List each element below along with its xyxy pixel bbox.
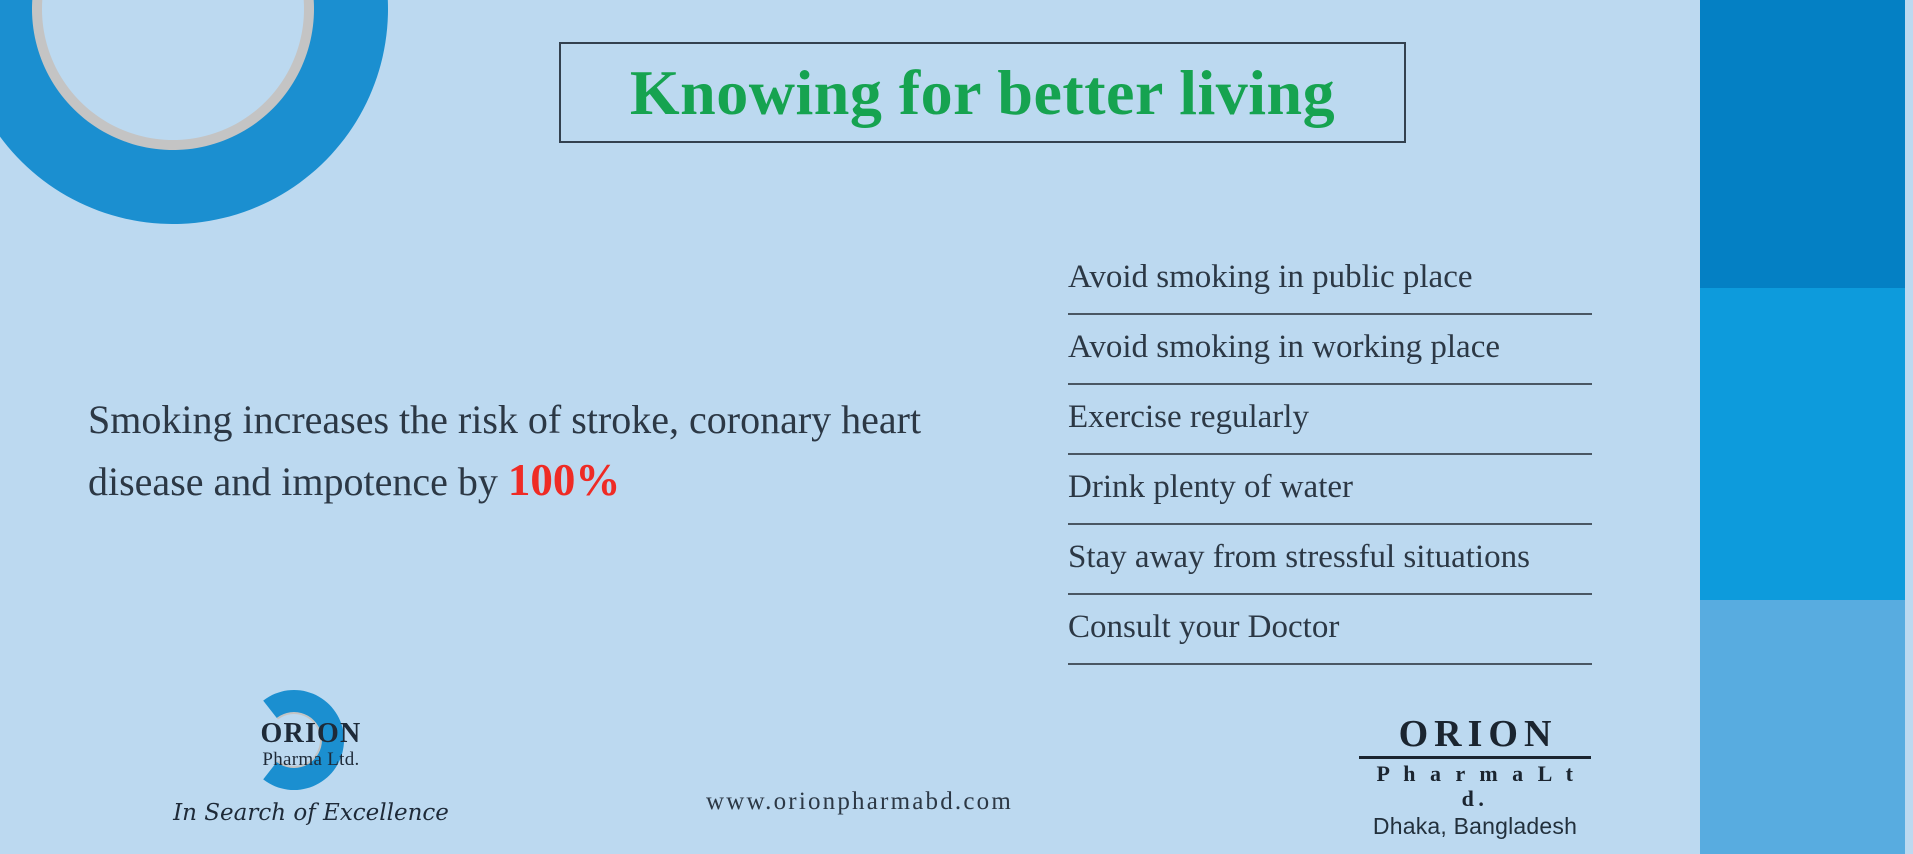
- list-item: Avoid smoking in public place: [1068, 245, 1592, 315]
- advice-list: Avoid smoking in public place Avoid smok…: [1068, 245, 1592, 665]
- slide-title-box: Knowing for better living: [559, 42, 1406, 143]
- orion-wordmark: ORION: [146, 720, 476, 748]
- statement-text: Smoking increases the risk of stroke, co…: [88, 392, 968, 513]
- orion-wordmark-large: ORION: [1355, 715, 1595, 755]
- list-item: Consult your Doctor: [1068, 595, 1592, 665]
- pharma-ltd-wordmark: Pharma Ltd.: [146, 748, 476, 772]
- list-item: Exercise regularly: [1068, 385, 1592, 455]
- company-location: Dhaka, Bangladesh: [1355, 812, 1595, 842]
- statement-percentage: 100%: [508, 455, 621, 505]
- company-tagline: In Search of Excellence: [146, 800, 476, 826]
- wordmark-divider: [1359, 756, 1591, 759]
- right-color-stripes: [1700, 0, 1905, 854]
- stripe-dark-blue: [1700, 0, 1905, 288]
- crescent-cut-wedge: [0, 0, 408, 9]
- stripe-light-blue: [1700, 600, 1905, 854]
- list-item: Avoid smoking in working place: [1068, 315, 1592, 385]
- website-url[interactable]: www.orionpharmabd.com: [706, 788, 1013, 816]
- list-item: Stay away from stressful situations: [1068, 525, 1592, 595]
- advice-item-label: Stay away from stressful situations: [1068, 539, 1530, 575]
- advice-item-label: Avoid smoking in public place: [1068, 259, 1473, 295]
- slide-canvas: Knowing for better living Smoking increa…: [0, 0, 1913, 854]
- advice-item-label: Drink plenty of water: [1068, 469, 1353, 505]
- advice-item-label: Exercise regularly: [1068, 399, 1309, 435]
- advice-item-label: Consult your Doctor: [1068, 609, 1339, 645]
- orion-logo-right: ORION P h a r m a L t d. Dhaka, Banglade…: [1355, 715, 1595, 842]
- slide-title: Knowing for better living: [630, 61, 1335, 125]
- list-item: Drink plenty of water: [1068, 455, 1592, 525]
- pharma-ltd-wordmark-large: P h a r m a L t d.: [1355, 761, 1595, 812]
- crescent-blue-ring: [0, 0, 408, 224]
- statement-body: Smoking increases the risk of stroke, co…: [88, 397, 921, 504]
- orion-logo-left-wordmark: ORION Pharma Ltd.: [146, 720, 476, 772]
- crescent-grey-ring: [0, 0, 376, 212]
- orion-crescent-decoration-icon: [0, 0, 408, 224]
- stripe-mid-blue: [1700, 288, 1905, 600]
- advice-item-label: Avoid smoking in working place: [1068, 329, 1500, 365]
- orion-logo-left: ORION Pharma Ltd. In Search of Excellenc…: [146, 688, 476, 836]
